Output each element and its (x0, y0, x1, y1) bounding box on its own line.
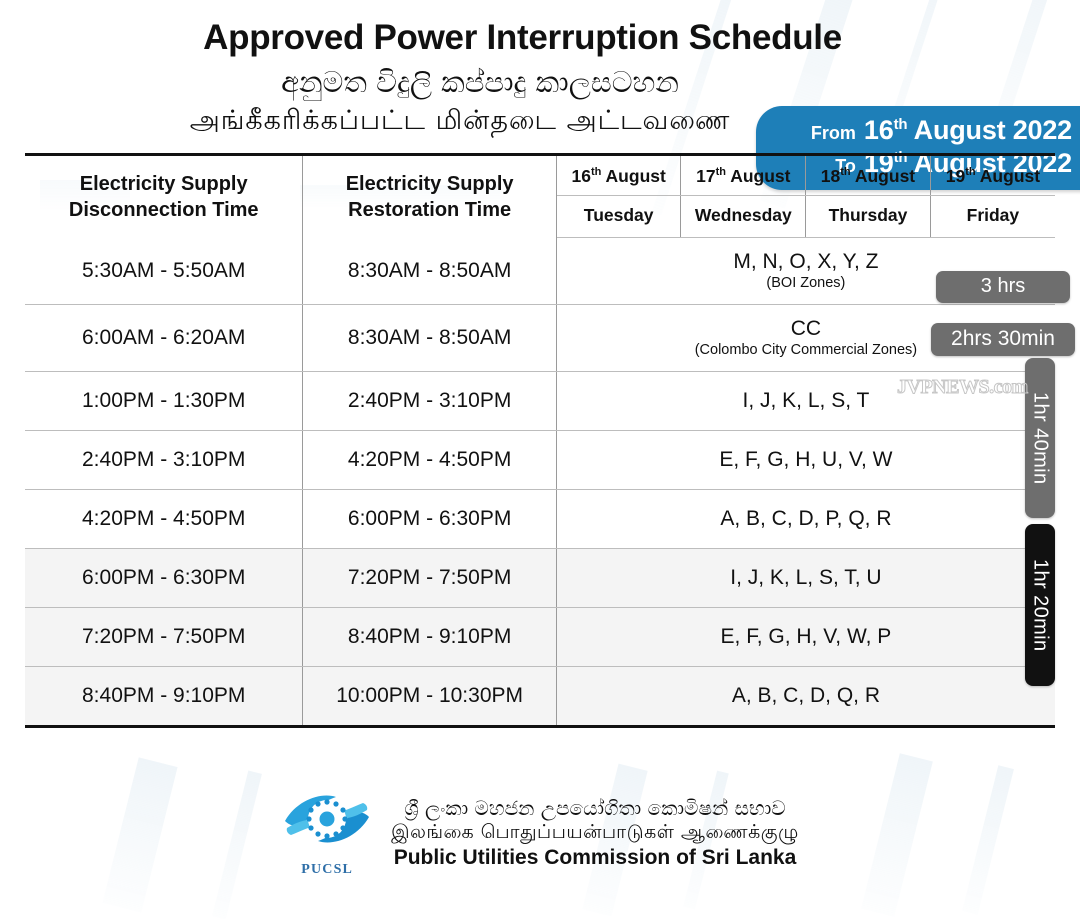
cell-disconnect-time: 6:00PM - 6:30PM (25, 548, 303, 607)
col-header-weekday-1: Wednesday (681, 196, 806, 238)
pucsl-logo: PUCSL (281, 788, 373, 878)
cell-zones: I, J, K, L, S, T (556, 371, 1055, 430)
table-row: 1:00PM - 1:30PM 2:40PM - 3:10PM I, J, K,… (25, 371, 1055, 430)
duration-badge-2hrs30min: 2hrs 30min (931, 323, 1075, 356)
table-row: 6:00AM - 6:20AM 8:30AM - 8:50AM CC(Colom… (25, 305, 1055, 372)
org-name-english: Public Utilities Commission of Sri Lanka (391, 845, 799, 870)
schedule-table: Electricity Supply Disconnection Time El… (25, 153, 1055, 728)
col-header-date-2: 18th August (806, 155, 931, 196)
table-row: 5:30AM - 5:50AM 8:30AM - 8:50AM M, N, O,… (25, 238, 1055, 305)
cell-disconnect-time: 8:40PM - 9:10PM (25, 666, 303, 726)
cell-restore-time: 7:20PM - 7:50PM (303, 548, 556, 607)
table-row: 8:40PM - 9:10PM 10:00PM - 10:30PM A, B, … (25, 666, 1055, 726)
cell-restore-time: 8:30AM - 8:50AM (303, 238, 556, 305)
cell-disconnect-time: 2:40PM - 3:10PM (25, 430, 303, 489)
organization-names: ශ්‍රී ලංකා මහජන උපයෝගිතා කොමිෂන් සභාව இல… (391, 796, 799, 871)
cell-disconnect-time: 6:00AM - 6:20AM (25, 305, 303, 372)
schedule-poster: Approved Power Interruption Schedule අනු… (0, 0, 1080, 902)
table-row: 6:00PM - 6:30PM 7:20PM - 7:50PM I, J, K,… (25, 548, 1055, 607)
poster-header: Approved Power Interruption Schedule අනු… (0, 0, 1080, 137)
org-name-tamil: இலங்கை பொதுப்பயன்பாடுகள் ஆணைக்குழு (391, 821, 799, 844)
cell-restore-time: 10:00PM - 10:30PM (303, 666, 556, 726)
col-header-disconnection-time: Electricity Supply Disconnection Time (25, 155, 303, 238)
cell-zones: E, F, G, H, V, W, P (556, 607, 1055, 666)
org-name-sinhala: ශ්‍රී ලංකා මහජන උපයෝගිතා කොමිෂන් සභාව (391, 796, 799, 820)
col-header-restoration-time: Electricity Supply Restoration Time (303, 155, 556, 238)
cell-disconnect-time: 5:30AM - 5:50AM (25, 238, 303, 305)
cell-restore-time: 8:40PM - 9:10PM (303, 607, 556, 666)
table-row: 7:20PM - 7:50PM 8:40PM - 9:10PM E, F, G,… (25, 607, 1055, 666)
table-row: 2:40PM - 3:10PM 4:20PM - 4:50PM E, F, G,… (25, 430, 1055, 489)
page-title-sinhala: අනුමත විදුලි කප්පාදු කාලසටහන (0, 64, 1080, 100)
table-row: 4:20PM - 4:50PM 6:00PM - 6:30PM A, B, C,… (25, 489, 1055, 548)
duration-badge-3hrs: 3 hrs (936, 271, 1070, 303)
col-header-date-0: 16th August (556, 155, 681, 196)
cell-disconnect-time: 1:00PM - 1:30PM (25, 371, 303, 430)
cell-restore-time: 8:30AM - 8:50AM (303, 305, 556, 372)
from-label: From (811, 123, 856, 144)
date-range-from: From 16th August 2022 (778, 115, 1072, 146)
table-body: 5:30AM - 5:50AM 8:30AM - 8:50AM M, N, O,… (25, 238, 1055, 727)
col-header-date-3: 19th August (930, 155, 1055, 196)
cell-disconnect-time: 4:20PM - 4:50PM (25, 489, 303, 548)
col-header-date-1: 17th August (681, 155, 806, 196)
col-header-weekday-2: Thursday (806, 196, 931, 238)
schedule-table-container: Electricity Supply Disconnection Time El… (25, 153, 1055, 728)
cell-zones: A, B, C, D, Q, R (556, 666, 1055, 726)
from-date: 16th August 2022 (864, 115, 1072, 146)
table-header-row-dates: Electricity Supply Disconnection Time El… (25, 155, 1055, 196)
cell-zones: A, B, C, D, P, Q, R (556, 489, 1055, 548)
cell-restore-time: 6:00PM - 6:30PM (303, 489, 556, 548)
cell-restore-time: 2:40PM - 3:10PM (303, 371, 556, 430)
table-header: Electricity Supply Disconnection Time El… (25, 155, 1055, 238)
duration-badge-1hr40min: 1hr 40min (1025, 358, 1055, 518)
cell-disconnect-time: 7:20PM - 7:50PM (25, 607, 303, 666)
footer: PUCSL ශ්‍රී ලංකා මහජන උපයෝගිතා කොමිෂන් ස… (0, 788, 1080, 878)
col-header-weekday-3: Friday (930, 196, 1055, 238)
col-header-weekday-0: Tuesday (556, 196, 681, 238)
pucsl-eye-icon (281, 788, 373, 866)
cell-zones: I, J, K, L, S, T, U (556, 548, 1055, 607)
page-title: Approved Power Interruption Schedule (0, 18, 1080, 58)
duration-badge-1hr20min: 1hr 20min (1025, 524, 1055, 686)
cell-zones: E, F, G, H, U, V, W (556, 430, 1055, 489)
cell-restore-time: 4:20PM - 4:50PM (303, 430, 556, 489)
